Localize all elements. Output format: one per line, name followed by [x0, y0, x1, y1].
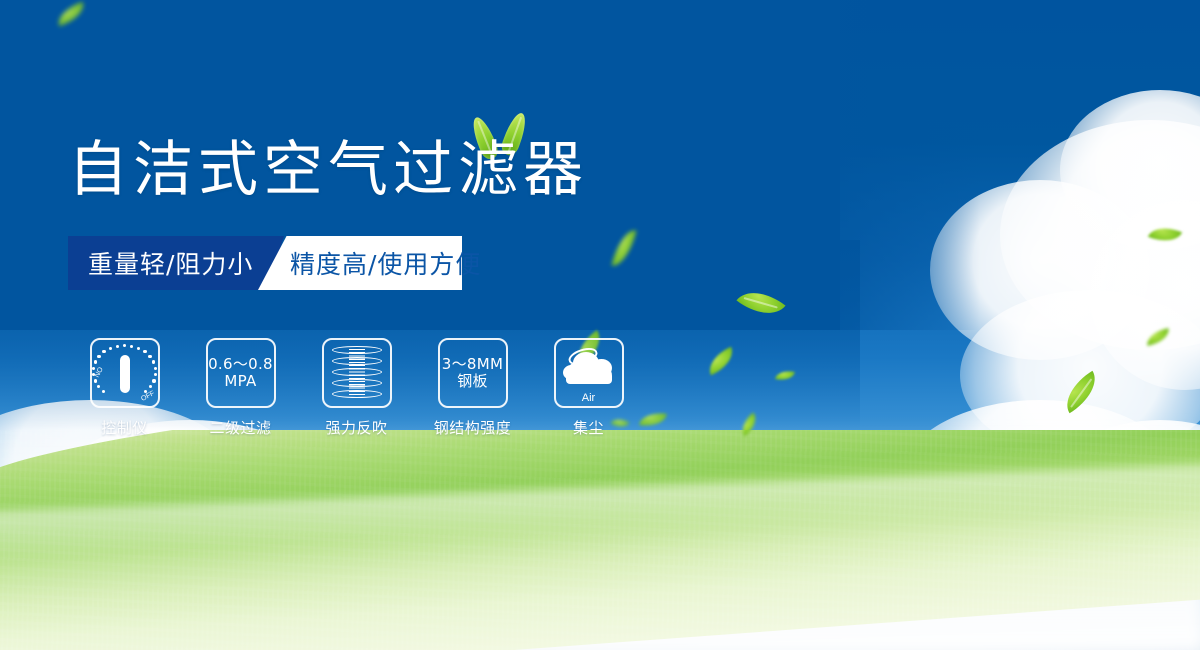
grass-field	[0, 430, 1200, 650]
feature-list: NO OFF 控制仪 0.6〜0.8 MPA 二级过滤	[82, 338, 631, 438]
feature-item-pressure[interactable]: 0.6〜0.8 MPA 二级过滤	[198, 338, 283, 438]
dial-off-label: OFF	[140, 390, 156, 403]
dial-indicator	[120, 355, 130, 393]
page-title: 自洁式空气过滤器	[68, 140, 588, 200]
air-cloud-icon: Air	[554, 338, 624, 408]
control-dial-icon: NO OFF	[90, 338, 160, 408]
subtitle-left-text: 重量轻/阻力小	[88, 236, 253, 290]
feature-label: 控制仪	[101, 417, 148, 438]
feature-item-blowback[interactable]: 强力反吹	[314, 338, 399, 438]
pressure-line2: MPA	[208, 373, 273, 390]
subtitle-bar: 重量轻/阻力小 精度高/使用方便	[68, 236, 462, 290]
steel-plate-text-icon: 3〜8MM 钢板	[438, 338, 508, 408]
feature-item-control[interactable]: NO OFF 控制仪	[82, 338, 167, 438]
steel-text: 3〜8MM 钢板	[442, 356, 503, 390]
pressure-line1: 0.6〜0.8	[208, 356, 273, 373]
discs-graphic	[332, 346, 382, 400]
pressure-text-icon: 0.6〜0.8 MPA	[206, 338, 276, 408]
feature-label: 强力反吹	[325, 417, 387, 438]
grass-texture	[0, 430, 1200, 650]
air-caption: Air	[560, 392, 618, 404]
pressure-text: 0.6〜0.8 MPA	[208, 356, 273, 390]
stacked-discs-icon	[322, 338, 392, 408]
feature-label: 二级过滤	[209, 417, 271, 438]
dial-graphic: NO OFF	[94, 342, 156, 404]
steel-line2: 钢板	[442, 373, 503, 390]
cloud-graphic: Air	[560, 348, 618, 394]
feature-item-steel[interactable]: 3〜8MM 钢板 钢结构强度	[430, 338, 515, 438]
feature-item-dust[interactable]: Air 集尘	[546, 338, 631, 438]
subtitle-right-text: 精度高/使用方便	[290, 236, 481, 290]
steel-line1: 3〜8MM	[442, 356, 503, 373]
hero-banner: 自洁式空气过滤器 重量轻/阻力小 精度高/使用方便	[0, 0, 1200, 650]
feature-label: 集尘	[573, 417, 604, 438]
feature-label: 钢结构强度	[434, 417, 512, 438]
